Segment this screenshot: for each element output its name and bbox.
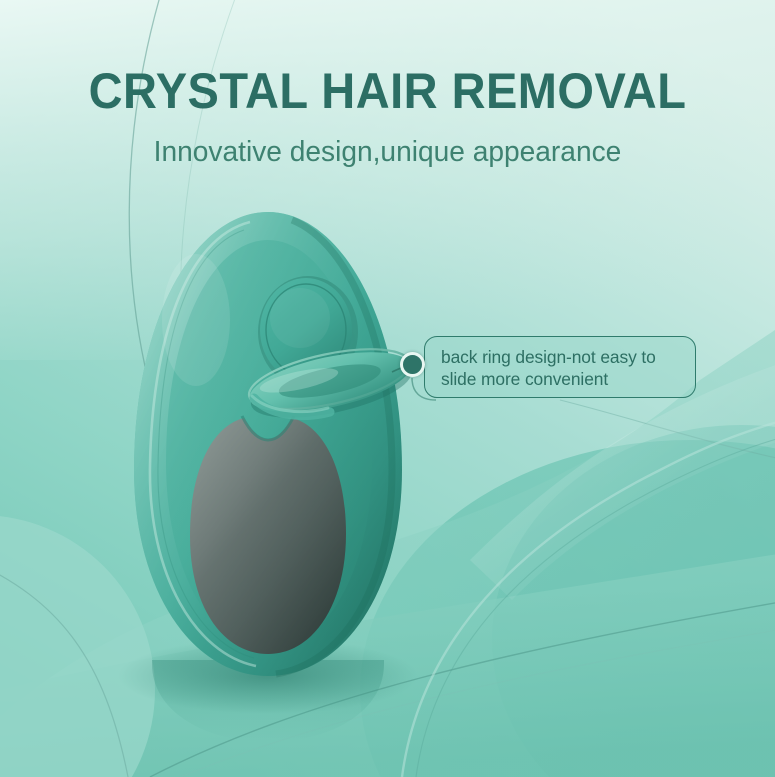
feature-callout-text: back ring design-not easy to slide more … [441, 346, 681, 390]
callout-marker-dot [400, 352, 425, 377]
page-title: CRYSTAL HAIR REMOVAL [23, 62, 752, 120]
product-poster: CRYSTAL HAIR REMOVAL Innovative design,u… [0, 0, 775, 777]
page-subtitle: Innovative design,unique appearance [12, 134, 764, 170]
feature-callout: back ring design-not easy to slide more … [424, 336, 696, 398]
